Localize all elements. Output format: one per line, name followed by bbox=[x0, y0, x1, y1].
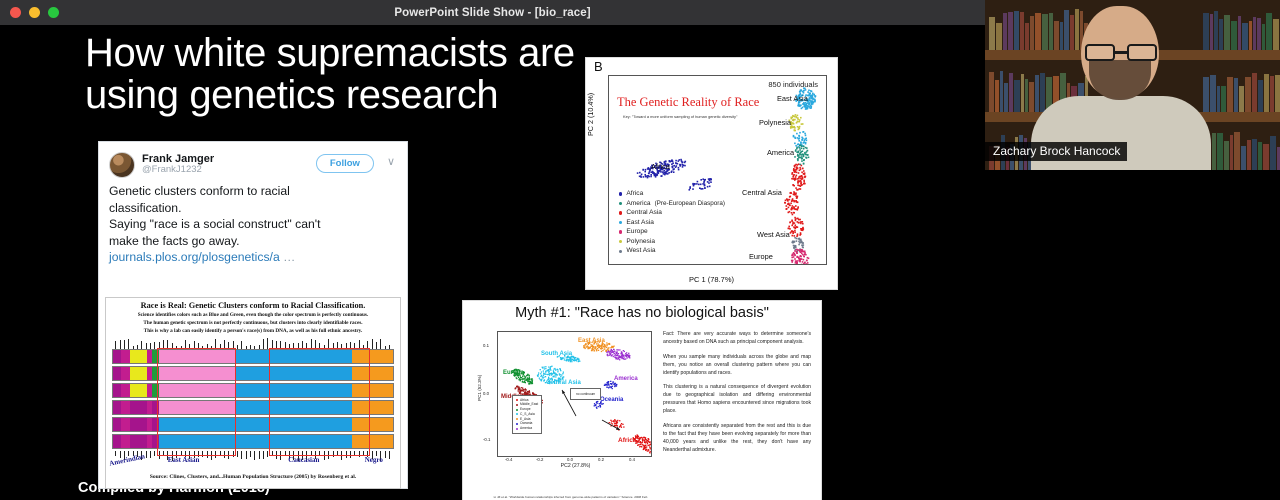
pca-x-axis-label: PC 1 (78.7%) bbox=[586, 275, 837, 284]
book bbox=[1004, 83, 1008, 112]
myth-explanatory-text: Fact: There are very accurate ways to de… bbox=[663, 331, 811, 462]
structure-segment bbox=[159, 367, 235, 380]
myth-legend-swatch bbox=[516, 404, 518, 406]
book bbox=[989, 72, 994, 112]
structure-tick bbox=[272, 340, 273, 349]
pca-legend-item: Europe bbox=[619, 227, 725, 237]
book bbox=[1060, 22, 1063, 50]
structure-segment bbox=[121, 418, 129, 431]
structure-segment bbox=[271, 367, 352, 380]
pca-figure-b: B PC 2 (10.4%) 850 individuals The Genet… bbox=[585, 57, 838, 290]
pca-cluster-label-west-asia: West Asia bbox=[757, 230, 790, 239]
myth-paragraph-1: Fact: There are very accurate ways to de… bbox=[663, 331, 811, 347]
structure-row bbox=[112, 349, 394, 364]
myth-x-axis-label: PC2 (27.8%) bbox=[497, 463, 654, 469]
myth-paragraph-4: Africans are consistently separated from… bbox=[663, 423, 811, 455]
book bbox=[1075, 9, 1079, 50]
myth-plot-area: Europe South Asia East Asia Central Asia… bbox=[497, 331, 652, 457]
structure-segment bbox=[113, 350, 121, 363]
structure-tick bbox=[124, 340, 125, 350]
structure-figure: Race is Real: Genetic Clusters conform t… bbox=[105, 297, 401, 489]
pca-legend-item: Africa bbox=[619, 189, 725, 199]
myth-plot: PC1 (52.3%) Europe South Asia East Asia … bbox=[479, 329, 654, 479]
structure-segment bbox=[352, 435, 393, 448]
book bbox=[1234, 78, 1238, 112]
structure-segment bbox=[152, 384, 159, 397]
structure-segment bbox=[121, 401, 129, 414]
structure-figure-source: Source: Clines, Clusters, and...Human Po… bbox=[106, 470, 400, 480]
book bbox=[1217, 86, 1220, 112]
book bbox=[1257, 18, 1261, 50]
book bbox=[1258, 142, 1262, 170]
book bbox=[1249, 21, 1252, 50]
webcam-video-tile[interactable]: Zachary Brock Hancock bbox=[985, 0, 1280, 170]
structure-row bbox=[112, 366, 394, 381]
structure-tick bbox=[115, 451, 116, 455]
structure-tick bbox=[172, 343, 173, 350]
pca-cluster-label-europe: Europe bbox=[749, 252, 773, 261]
book bbox=[1219, 19, 1223, 50]
book bbox=[1003, 13, 1007, 50]
myth-no-continuum-annotation: no continuum bbox=[570, 388, 601, 400]
structure-tick bbox=[267, 338, 268, 349]
structure-tick bbox=[198, 343, 199, 350]
book bbox=[1266, 13, 1272, 50]
slide-title-line-1: How white supremacists are bbox=[85, 33, 585, 75]
myth-cluster-label-central-asia: Central Asia bbox=[546, 380, 581, 386]
pca-cluster-label-polynesia: Polynesia bbox=[759, 118, 791, 127]
structure-segment bbox=[152, 401, 159, 414]
book bbox=[1252, 139, 1257, 170]
structure-tick bbox=[185, 340, 186, 350]
book bbox=[1009, 73, 1013, 112]
structure-segment bbox=[159, 401, 235, 414]
pca-cluster-label-america: America bbox=[767, 148, 794, 157]
tweet-author: Frank Jamger @FrankJ1232 bbox=[142, 152, 309, 176]
myth-cluster-label-oceania: Oceania bbox=[600, 397, 623, 403]
slide-stage[interactable]: How white supremacists are using genetic… bbox=[0, 25, 985, 500]
pca-legend-item: America (Pre-European Diaspora) bbox=[619, 199, 725, 209]
structure-tick bbox=[363, 451, 364, 455]
book bbox=[1210, 75, 1216, 112]
structure-segment bbox=[352, 401, 393, 414]
pca-legend-item: Central Asia bbox=[619, 208, 725, 218]
structure-tick bbox=[120, 340, 121, 349]
structure-row bbox=[112, 400, 394, 415]
slide-title: How white supremacists are using genetic… bbox=[85, 33, 585, 116]
structure-tick bbox=[115, 341, 116, 350]
book bbox=[1014, 80, 1020, 112]
structure-segment bbox=[152, 435, 159, 448]
book bbox=[1234, 132, 1240, 170]
books-group bbox=[989, 6, 1088, 50]
structure-tick bbox=[319, 343, 320, 350]
tweet-text-line-1: Genetic clusters conform to racial bbox=[109, 183, 397, 200]
book bbox=[1270, 76, 1274, 112]
myth-figure-caption: Li JZ et al. "Worldwide human relationsh… bbox=[483, 495, 658, 500]
myth-legend: AfricaMiddle_EastEuropeC_S_AsiaE_AsiaOce… bbox=[512, 395, 542, 434]
myth-legend-label: America bbox=[520, 426, 532, 431]
pca-legend-swatch bbox=[619, 240, 622, 243]
structure-segment bbox=[121, 367, 129, 380]
structure-segment bbox=[130, 418, 147, 431]
structure-group-labels: Amerindian East Asian Caucasian Negro bbox=[106, 456, 400, 470]
tweet-text-line-2: classification. bbox=[109, 200, 397, 217]
structure-tick bbox=[194, 341, 195, 349]
book bbox=[1214, 11, 1218, 50]
structure-subtitle-line-2: The human genetic spectrum is not perfec… bbox=[112, 320, 394, 328]
structure-segment bbox=[159, 418, 235, 431]
myth-figure: Myth #1: "Race has no biological basis" … bbox=[462, 300, 822, 500]
structure-segment bbox=[130, 367, 147, 380]
chevron-down-icon[interactable]: ∨ bbox=[381, 152, 397, 168]
structure-tick bbox=[293, 343, 294, 350]
structure-segment bbox=[235, 384, 271, 397]
pca-legend: AfricaAmerica (Pre-European Diaspora)Cen… bbox=[619, 189, 725, 256]
structure-segment bbox=[352, 367, 393, 380]
myth-cluster-label-europe: Europe bbox=[503, 370, 524, 376]
structure-tick bbox=[167, 340, 168, 349]
pca-legend-label: America bbox=[626, 199, 650, 209]
pca-cluster-label-africa: Africa bbox=[651, 162, 670, 171]
structure-tick bbox=[215, 339, 216, 350]
myth-legend-swatch bbox=[516, 413, 518, 415]
avatar bbox=[109, 152, 135, 178]
book bbox=[1242, 23, 1248, 50]
book bbox=[1203, 77, 1209, 112]
structure-tick bbox=[159, 342, 160, 350]
powerpoint-slideshow-window: PowerPoint Slide Show - [bio_race] How w… bbox=[0, 0, 1280, 500]
structure-tick bbox=[367, 341, 368, 349]
book bbox=[995, 80, 999, 112]
structure-row bbox=[112, 383, 394, 398]
myth-figure-title: Myth #1: "Race has no biological basis" bbox=[463, 301, 821, 321]
structure-segment bbox=[121, 435, 129, 448]
book bbox=[1210, 14, 1213, 50]
book bbox=[1217, 133, 1223, 170]
book bbox=[1273, 19, 1279, 50]
structure-subtitle-line-3: This is why a lab can easily identify a … bbox=[112, 328, 394, 336]
book bbox=[1224, 15, 1230, 50]
book bbox=[1064, 10, 1069, 50]
structure-tick bbox=[315, 340, 316, 349]
structure-tick bbox=[146, 343, 147, 350]
myth-cluster-label-africa: Africa bbox=[618, 437, 636, 444]
pca-legend-swatch bbox=[619, 202, 622, 205]
book bbox=[1000, 71, 1003, 112]
book bbox=[1231, 21, 1237, 50]
structure-segment bbox=[352, 418, 393, 431]
structure-segment bbox=[152, 350, 159, 363]
book bbox=[1247, 140, 1251, 170]
myth-y-axis-label: PC1 (52.3%) bbox=[477, 375, 482, 401]
structure-segment bbox=[271, 401, 352, 414]
structure-tick bbox=[233, 341, 234, 350]
structure-segment bbox=[235, 367, 271, 380]
book bbox=[989, 17, 995, 50]
myth-legend-swatch bbox=[516, 418, 518, 420]
structure-tick bbox=[263, 339, 264, 350]
structure-row bbox=[112, 417, 394, 432]
myth-xtick-3: 0.0 bbox=[567, 457, 573, 462]
structure-subtitle-line-1: Science identifies colors such as Blue a… bbox=[112, 312, 394, 320]
myth-legend-swatch bbox=[516, 428, 518, 430]
structure-tick bbox=[280, 341, 281, 349]
books-group bbox=[1203, 130, 1280, 170]
follow-button[interactable]: Follow bbox=[316, 154, 374, 173]
myth-xtick-1: -0.4 bbox=[505, 457, 512, 462]
structure-segment bbox=[159, 350, 235, 363]
books-group bbox=[1203, 6, 1279, 50]
structure-tick bbox=[276, 341, 277, 350]
structure-tick bbox=[337, 451, 338, 455]
pca-legend-swatch bbox=[619, 221, 622, 224]
structure-tick bbox=[285, 342, 286, 350]
window-titlebar: PowerPoint Slide Show - [bio_race] bbox=[0, 0, 985, 25]
structure-tick bbox=[228, 342, 229, 349]
book bbox=[1221, 86, 1226, 112]
pca-legend-label: East Asia bbox=[626, 218, 654, 228]
structure-rows bbox=[112, 349, 394, 449]
structure-tick bbox=[328, 339, 329, 350]
book bbox=[1252, 73, 1257, 112]
book bbox=[1040, 73, 1045, 112]
myth-cluster-label-south-asia: South Asia bbox=[541, 351, 572, 357]
myth-xtick-2: -0.2 bbox=[536, 457, 543, 462]
structure-tick bbox=[163, 340, 164, 349]
structure-segment bbox=[130, 435, 147, 448]
myth-legend-swatch bbox=[516, 409, 518, 411]
tweet-header: Frank Jamger @FrankJ1232 Follow ∨ bbox=[107, 148, 399, 180]
structure-segment bbox=[235, 350, 271, 363]
structure-segment bbox=[271, 435, 352, 448]
structure-top-ticks bbox=[112, 338, 394, 349]
book bbox=[1025, 23, 1029, 50]
participant-name-label: Zachary Brock Hancock bbox=[985, 142, 1127, 161]
glasses-icon bbox=[1085, 44, 1157, 61]
book bbox=[1030, 16, 1034, 50]
tweet-text-line-3: Saying "race is a social construct" can'… bbox=[109, 216, 397, 233]
structure-segment bbox=[235, 435, 271, 448]
structure-tick bbox=[380, 339, 381, 349]
structure-tick bbox=[346, 343, 347, 350]
structure-segment bbox=[271, 350, 352, 363]
book bbox=[1203, 13, 1209, 50]
structure-tick bbox=[311, 339, 312, 349]
structure-label-caucasian: Caucasian bbox=[288, 456, 319, 464]
structure-tick bbox=[241, 341, 242, 349]
tweet-link[interactable]: journals.plos.org/plosgenetics/a bbox=[109, 250, 280, 264]
book bbox=[1245, 77, 1251, 112]
myth-xtick-5: 0.4 bbox=[629, 457, 635, 462]
structure-segment bbox=[235, 401, 271, 414]
pca-legend-swatch bbox=[619, 211, 622, 214]
structure-segment bbox=[113, 367, 121, 380]
pca-legend-note: (Pre-European Diaspora) bbox=[655, 199, 725, 208]
book bbox=[1042, 14, 1048, 50]
structure-segment bbox=[159, 435, 235, 448]
structure-segment bbox=[113, 401, 121, 414]
book bbox=[1270, 136, 1276, 170]
myth-paragraph-3: This clustering is a natural consequence… bbox=[663, 384, 811, 416]
book bbox=[1238, 16, 1241, 50]
structure-tick bbox=[224, 340, 225, 349]
structure-figure-title: Race is Real: Genetic Clusters conform t… bbox=[106, 298, 400, 312]
structure-tick bbox=[359, 340, 360, 349]
structure-tick bbox=[372, 339, 373, 350]
book bbox=[1275, 75, 1280, 112]
pca-legend-label: Central Asia bbox=[626, 208, 662, 218]
structure-segment bbox=[352, 350, 393, 363]
webcam-panel-filler bbox=[985, 170, 1280, 500]
tweet-text-line-4: make the facts go away. bbox=[109, 233, 397, 250]
structure-tick bbox=[337, 342, 338, 350]
book bbox=[1230, 135, 1233, 170]
pca-legend-item: West Asia bbox=[619, 246, 725, 256]
book bbox=[1029, 82, 1034, 112]
book bbox=[1241, 146, 1246, 170]
pca-legend-item: Polynesia bbox=[619, 237, 725, 247]
structure-segment bbox=[271, 384, 352, 397]
myth-xtick-4: 0.2 bbox=[598, 457, 604, 462]
book bbox=[1054, 21, 1059, 50]
structure-tick bbox=[141, 341, 142, 350]
slide-title-line-2: using genetics research bbox=[85, 75, 585, 117]
pca-legend-label: West Asia bbox=[626, 246, 655, 256]
structure-segment bbox=[235, 418, 271, 431]
structure-tick bbox=[302, 341, 303, 349]
book bbox=[1227, 77, 1233, 112]
structure-figure-subtitle: Science identifies colors such as Blue a… bbox=[106, 312, 400, 338]
structure-label-east-asian: East Asian bbox=[168, 456, 200, 464]
pca-legend-swatch bbox=[619, 230, 622, 233]
structure-segment bbox=[130, 350, 147, 363]
book bbox=[1021, 74, 1024, 112]
structure-segment bbox=[152, 367, 159, 380]
book bbox=[1070, 15, 1074, 50]
book bbox=[1212, 133, 1216, 170]
pca-cluster-label-east-asia: East Asia bbox=[777, 94, 808, 103]
structure-tick bbox=[376, 342, 377, 349]
myth-ytick-3: -0.1 bbox=[483, 437, 490, 442]
structure-tick bbox=[333, 343, 334, 350]
books-group bbox=[1203, 68, 1280, 112]
structure-segment bbox=[159, 384, 235, 397]
myth-legend-item: America bbox=[516, 426, 538, 431]
structure-tick bbox=[376, 451, 377, 455]
structure-barplot bbox=[112, 338, 394, 456]
book bbox=[1035, 75, 1039, 112]
pca-legend-swatch bbox=[619, 192, 622, 195]
window-title: PowerPoint Slide Show - [bio_race] bbox=[0, 7, 985, 19]
structure-row bbox=[112, 434, 394, 449]
book bbox=[1008, 12, 1013, 50]
tweet-link-ellipsis: … bbox=[283, 250, 295, 264]
book bbox=[1035, 13, 1041, 50]
myth-ytick-2: 0.0 bbox=[483, 391, 489, 396]
structure-label-negro: Negro bbox=[365, 456, 383, 464]
myth-cluster-label-east-asia: East Asia bbox=[578, 338, 605, 344]
book bbox=[1224, 141, 1229, 170]
book bbox=[1025, 79, 1028, 112]
myth-ytick-1: 0.1 bbox=[483, 343, 489, 348]
book bbox=[1264, 74, 1269, 112]
structure-segment bbox=[130, 384, 147, 397]
book bbox=[1253, 17, 1256, 50]
structure-tick bbox=[350, 342, 351, 349]
book bbox=[1020, 12, 1024, 50]
structure-tick bbox=[272, 451, 273, 455]
structure-tick bbox=[154, 342, 155, 349]
structure-segment bbox=[271, 418, 352, 431]
book bbox=[1014, 11, 1019, 50]
structure-tick bbox=[306, 343, 307, 350]
structure-segment bbox=[113, 435, 121, 448]
book bbox=[1258, 80, 1263, 112]
myth-paragraph-2: When you sample many individuals across … bbox=[663, 354, 811, 378]
tweet-text: Genetic clusters conform to racial class… bbox=[107, 180, 399, 266]
structure-segment bbox=[130, 401, 147, 414]
pca-legend-label: Polynesia bbox=[626, 237, 655, 247]
structure-segment bbox=[352, 384, 393, 397]
structure-segment bbox=[121, 350, 129, 363]
pca-y-axis-label: PC 2 (10.4%) bbox=[586, 93, 595, 136]
structure-tick bbox=[128, 339, 129, 349]
structure-segment bbox=[113, 384, 121, 397]
pca-plot-area: 850 individuals The Genetic Reality of R… bbox=[608, 75, 827, 265]
pca-legend-label: Africa bbox=[626, 189, 643, 199]
pca-panel-letter: B bbox=[594, 59, 603, 74]
myth-legend-swatch bbox=[516, 423, 518, 425]
book bbox=[996, 23, 1002, 50]
book bbox=[1049, 13, 1053, 50]
pca-cluster-label-central-asia: Central Asia bbox=[742, 188, 782, 197]
pca-legend-label: Europe bbox=[626, 227, 647, 237]
pca-legend-swatch bbox=[619, 250, 622, 253]
tweet-handle: @FrankJ1232 bbox=[142, 165, 309, 176]
book bbox=[1263, 144, 1269, 170]
pca-legend-item: East Asia bbox=[619, 218, 725, 228]
structure-segment bbox=[152, 418, 159, 431]
book bbox=[1262, 24, 1265, 50]
myth-legend-swatch bbox=[516, 399, 518, 401]
structure-segment bbox=[113, 418, 121, 431]
structure-segment bbox=[121, 384, 129, 397]
book bbox=[1239, 86, 1244, 112]
structure-tick bbox=[319, 451, 320, 455]
myth-cluster-label-america: America bbox=[614, 376, 638, 382]
participant-beard bbox=[1089, 60, 1151, 100]
